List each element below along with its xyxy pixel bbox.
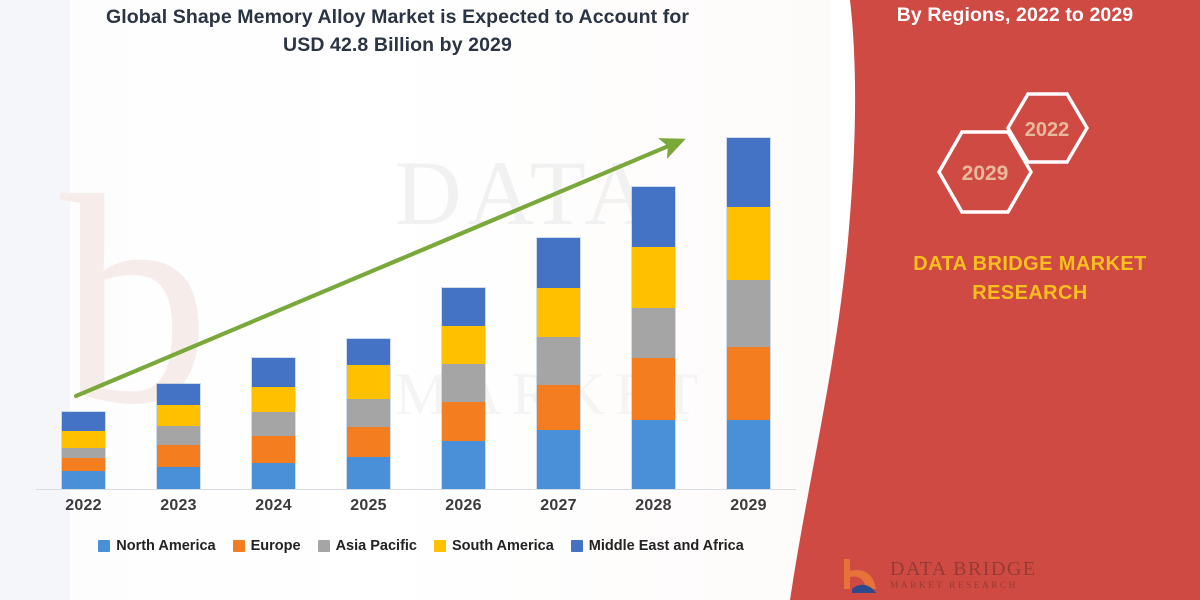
legend-label: North America: [116, 538, 215, 554]
bar-segment[interactable]: [62, 448, 105, 458]
bar-segment[interactable]: [727, 347, 770, 420]
x-axis-label-2026: 2026: [416, 497, 511, 515]
legend-swatch-icon: [98, 540, 110, 552]
bar-segment[interactable]: [632, 358, 675, 420]
x-axis-label-2027: 2027: [511, 497, 606, 515]
x-axis-label-2025: 2025: [321, 497, 416, 515]
infographic-canvas: b DATA MARKET Global Shape Memory Alloy …: [0, 0, 1200, 600]
dbmr-logo: DATA BRIDGE MARKET RESEARCH: [840, 555, 1037, 595]
bar-segment[interactable]: [442, 288, 485, 326]
bar-segment[interactable]: [442, 364, 485, 402]
bar-column-2025[interactable]: [321, 91, 416, 489]
legend-item[interactable]: South America: [434, 538, 554, 554]
legend-label: Asia Pacific: [336, 538, 417, 554]
bar-segment[interactable]: [252, 412, 295, 436]
x-axis-label-2029: 2029: [701, 497, 796, 515]
logo-line-2: MARKET RESEARCH: [890, 581, 1037, 592]
bar-segment[interactable]: [632, 247, 675, 308]
bar-segment[interactable]: [157, 384, 200, 405]
stacked-bar[interactable]: [252, 358, 295, 489]
legend-swatch-icon: [233, 540, 245, 552]
legend-item[interactable]: Europe: [233, 538, 301, 554]
bar-segment[interactable]: [252, 463, 295, 489]
bar-segment[interactable]: [347, 457, 390, 489]
bar-segment[interactable]: [632, 187, 675, 247]
legend-item[interactable]: Middle East and Africa: [571, 538, 744, 554]
bar-segment[interactable]: [347, 399, 390, 427]
bar-segment[interactable]: [632, 308, 675, 358]
legend-swatch-icon: [434, 540, 446, 552]
bar-segment[interactable]: [62, 431, 105, 448]
brand-line-1: DATA BRIDGE MARKET: [880, 250, 1180, 279]
bar-segment[interactable]: [727, 207, 770, 280]
bar-column-2023[interactable]: [131, 91, 226, 489]
stacked-bar[interactable]: [632, 187, 675, 489]
bar-segment[interactable]: [537, 430, 580, 489]
bar-segment[interactable]: [347, 339, 390, 365]
headline-line-2: USD 42.8 Billion by 2029: [40, 32, 755, 60]
subtitle-regions: By Regions, 2022 to 2029: [845, 2, 1185, 30]
stacked-bar[interactable]: [157, 384, 200, 489]
headline-line-1: Global Shape Memory Alloy Market is Expe…: [40, 4, 755, 32]
bar-segment[interactable]: [727, 420, 770, 489]
bar-segment[interactable]: [157, 467, 200, 489]
hexagon-2022-label: 2022: [1025, 119, 1070, 141]
legend-label: Middle East and Africa: [589, 538, 744, 554]
brand-line-2: RESEARCH: [880, 279, 1180, 308]
bar-segment[interactable]: [442, 326, 485, 364]
hexagon-pair-icon: 2022 2029: [920, 88, 1110, 233]
bar-segment[interactable]: [347, 427, 390, 457]
x-axis-label-2024: 2024: [226, 497, 321, 515]
chart-plot-area: [36, 90, 796, 490]
legend-label: Europe: [251, 538, 301, 554]
bar-segment[interactable]: [347, 365, 390, 399]
legend-swatch-icon: [571, 540, 583, 552]
bar-segment[interactable]: [252, 358, 295, 387]
stacked-bar-group: [36, 91, 796, 489]
bar-column-2026[interactable]: [416, 91, 511, 489]
hexagon-badges: 2022 2029: [920, 88, 1110, 233]
bar-segment[interactable]: [252, 387, 295, 412]
brand-name: DATA BRIDGE MARKET RESEARCH: [880, 250, 1180, 308]
dbmr-logo-text: DATA BRIDGE MARKET RESEARCH: [890, 558, 1037, 592]
bar-segment[interactable]: [157, 405, 200, 426]
stacked-bar[interactable]: [442, 288, 485, 489]
chart-legend: North AmericaEuropeAsia PacificSouth Ame…: [36, 538, 806, 554]
bar-segment[interactable]: [632, 420, 675, 489]
bar-segment[interactable]: [157, 445, 200, 467]
bar-segment[interactable]: [727, 280, 770, 347]
logo-line-1: DATA BRIDGE: [890, 558, 1037, 581]
bar-column-2024[interactable]: [226, 91, 321, 489]
bar-segment[interactable]: [62, 412, 105, 431]
legend-swatch-icon: [318, 540, 330, 552]
legend-item[interactable]: North America: [98, 538, 215, 554]
bar-segment[interactable]: [537, 337, 580, 385]
stacked-bar[interactable]: [347, 339, 390, 489]
bar-segment[interactable]: [537, 385, 580, 430]
bar-column-2027[interactable]: [511, 91, 606, 489]
subtitle-line-1: By Regions, 2022 to 2029: [897, 4, 1134, 26]
bar-column-2029[interactable]: [701, 91, 796, 489]
bridge-logo-icon: [840, 555, 882, 595]
bar-segment[interactable]: [727, 138, 770, 207]
bar-segment[interactable]: [537, 238, 580, 288]
bar-segment[interactable]: [62, 471, 105, 489]
x-axis-labels: 20222023202420252026202720282029: [36, 497, 796, 515]
stacked-bar[interactable]: [537, 238, 580, 489]
legend-item[interactable]: Asia Pacific: [318, 538, 417, 554]
bar-column-2022[interactable]: [36, 91, 131, 489]
bar-segment[interactable]: [442, 402, 485, 441]
bar-segment[interactable]: [442, 441, 485, 489]
bar-segment[interactable]: [252, 436, 295, 463]
legend-label: South America: [452, 538, 554, 554]
bar-segment[interactable]: [157, 426, 200, 445]
stacked-bar[interactable]: [727, 138, 770, 489]
chart-baseline: [36, 489, 796, 490]
stacked-bar[interactable]: [62, 412, 105, 489]
bar-column-2028[interactable]: [606, 91, 701, 489]
x-axis-label-2023: 2023: [131, 497, 226, 515]
bar-segment[interactable]: [62, 458, 105, 471]
x-axis-label-2028: 2028: [606, 497, 701, 515]
hexagon-2029-label: 2029: [962, 162, 1009, 185]
x-axis-label-2022: 2022: [36, 497, 131, 515]
bar-segment[interactable]: [537, 288, 580, 337]
page-title: Global Shape Memory Alloy Market is Expe…: [40, 4, 755, 59]
